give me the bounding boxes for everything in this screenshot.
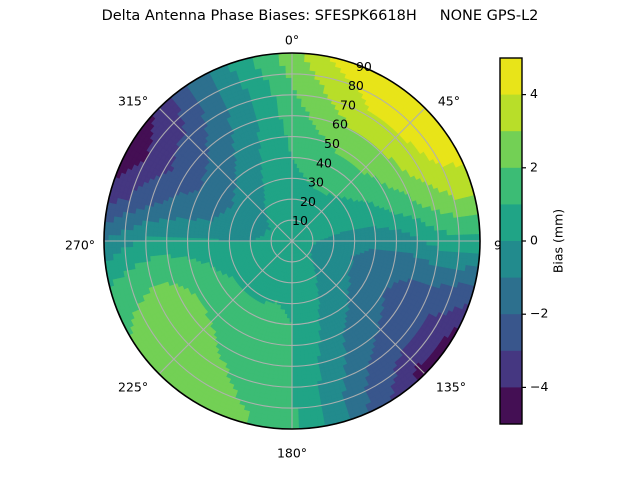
polar-plot-area: 0°45°90135°180°225°270°315° 102030405060…	[0, 0, 640, 480]
colorbar-tick-label: 2	[530, 159, 538, 174]
colorbar-band	[500, 168, 522, 205]
radial-label-20: 20	[300, 194, 316, 209]
colorbar-band	[500, 204, 522, 241]
azimuth-label-270: 270°	[65, 238, 95, 253]
azimuth-label-225: 225°	[118, 379, 148, 394]
polar-grid-group	[104, 53, 480, 429]
azimuth-label-180: 180°	[277, 446, 307, 461]
colorbar-band	[500, 58, 522, 95]
radial-label-70: 70	[340, 97, 356, 112]
radial-label-80: 80	[348, 78, 364, 93]
colorbar-band	[500, 387, 522, 424]
radial-label-90: 90	[356, 59, 372, 74]
azimuth-label-135: 135°	[436, 379, 466, 394]
colorbar-tick-label: −2	[530, 306, 548, 321]
colorbar-band	[500, 241, 522, 278]
azimuth-label-45: 45°	[438, 94, 460, 109]
polar-contour-svg: 0°45°90135°180°225°270°315° 102030405060…	[0, 0, 640, 480]
radial-label-10: 10	[292, 213, 308, 228]
colorbar-band	[500, 95, 522, 132]
colorbar-tick-label: 0	[530, 233, 538, 248]
colorbar-band	[500, 131, 522, 168]
azimuth-label-0: 0°	[285, 33, 299, 48]
colorbar-band	[500, 278, 522, 315]
radial-label-50: 50	[324, 136, 340, 151]
colorbar-tick-label: −4	[530, 379, 548, 394]
radial-label-60: 60	[332, 117, 348, 132]
colorbar-band	[500, 351, 522, 388]
azimuth-label-315: 315°	[118, 94, 148, 109]
colorbar: 420−2−4	[500, 58, 548, 425]
figure-canvas: Delta Antenna Phase Biases: SFESPK6618H …	[0, 0, 640, 480]
colorbar-band	[500, 314, 522, 351]
radial-label-40: 40	[316, 155, 332, 170]
radial-label-30: 30	[308, 175, 324, 190]
colorbar-tick-label: 4	[530, 86, 538, 101]
colorbar-axis-label: Bias (mm)	[551, 209, 566, 273]
